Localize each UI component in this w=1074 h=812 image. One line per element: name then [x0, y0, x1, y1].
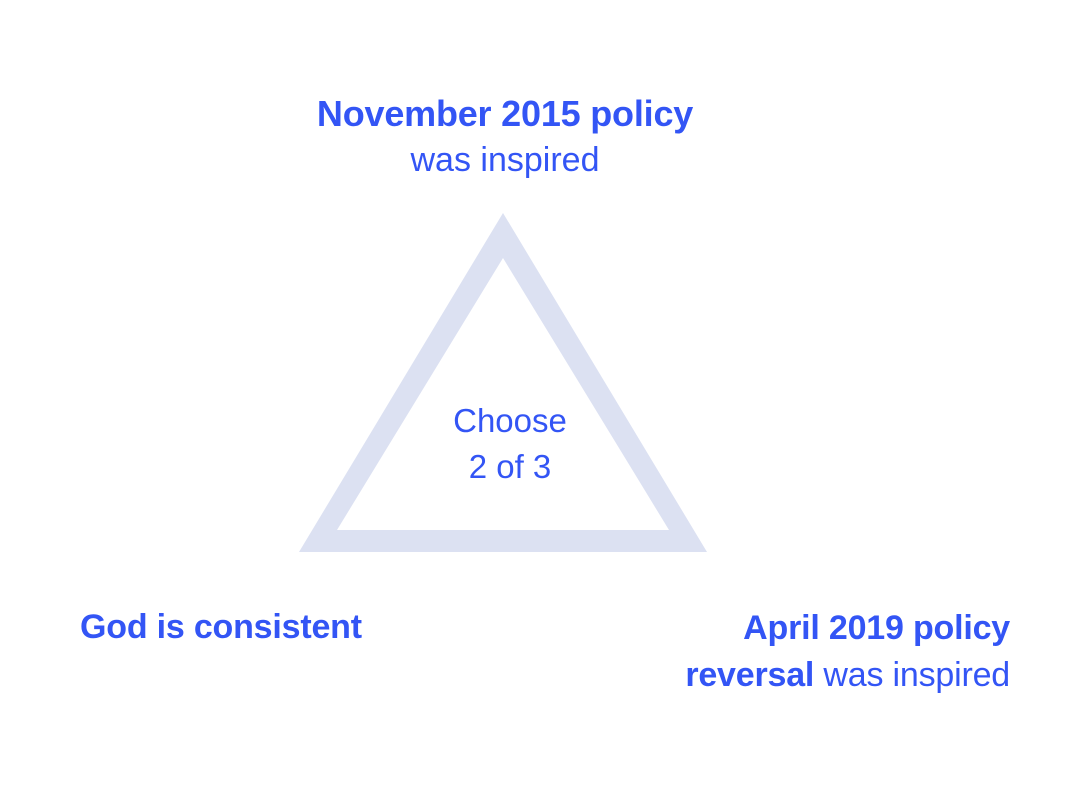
vertex-label-bottom-right-line2-emphasis: reversal	[685, 656, 814, 694]
vertex-label-bottom-right-line2-rest: was inspired	[814, 656, 1010, 694]
vertex-label-bottom-left-line1: God is consistent	[80, 605, 362, 650]
diagram-canvas: November 2015 policy was inspired Choose…	[0, 0, 1074, 812]
triangle-outline-path	[299, 213, 707, 552]
center-label-line2: 2 of 3	[0, 444, 1020, 490]
vertex-label-top: November 2015 policy was inspired	[0, 90, 1010, 183]
center-label-line1: Choose	[0, 398, 1020, 444]
vertex-label-top-line1: November 2015 policy	[0, 90, 1010, 138]
vertex-label-top-line2: was inspired	[0, 138, 1010, 183]
center-label: Choose 2 of 3	[0, 398, 1020, 489]
vertex-label-bottom-right: April 2019 policy reversal was inspired	[540, 605, 1010, 699]
vertex-label-bottom-right-line2: reversal was inspired	[540, 652, 1010, 699]
vertex-label-bottom-right-line1: April 2019 policy	[540, 605, 1010, 652]
vertex-label-bottom-left: God is consistent	[80, 605, 362, 650]
